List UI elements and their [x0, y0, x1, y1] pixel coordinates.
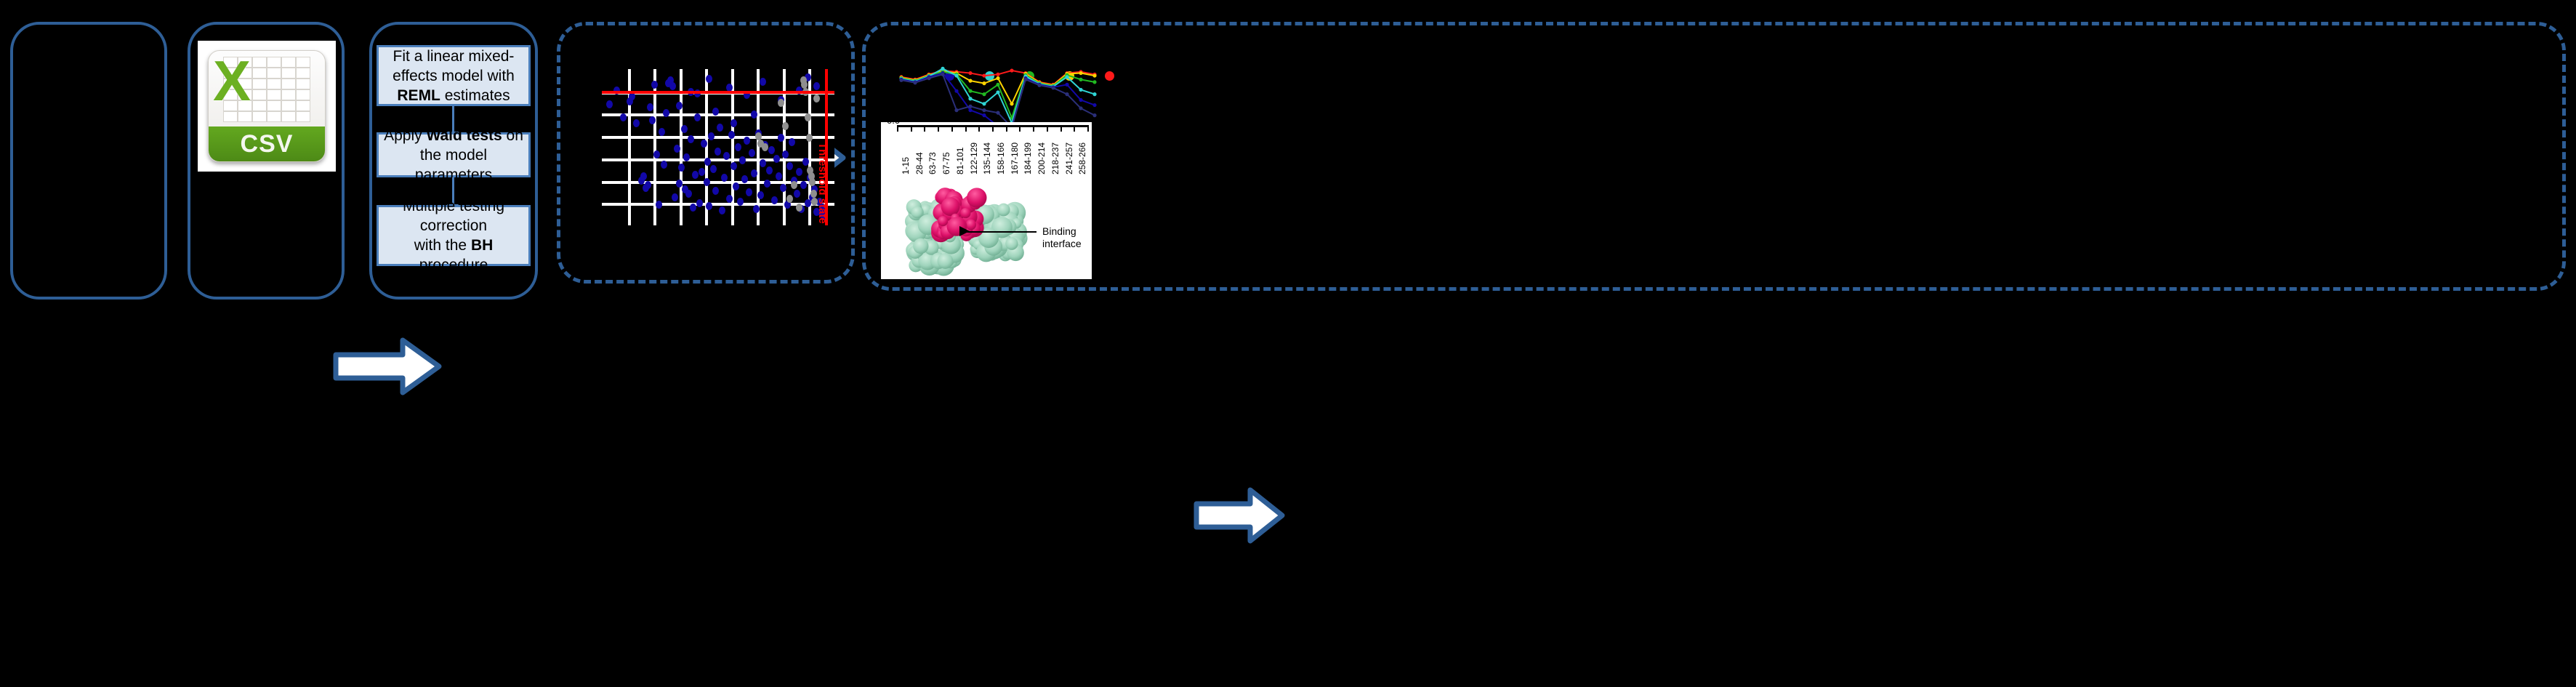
x-axis-tick-label: 167-180	[1010, 142, 1020, 174]
peptide-series-point	[996, 90, 999, 94]
scatter-point-significant	[653, 150, 660, 158]
protein-surface-blob	[997, 204, 1010, 217]
results-panel	[862, 22, 2566, 291]
x-axis-tick-label: 158-166	[996, 142, 1006, 174]
epitope-blob	[960, 208, 970, 218]
scatter-point-significant	[737, 198, 744, 206]
scatter-point-significant	[683, 153, 690, 161]
bh-post: procedure	[419, 257, 488, 273]
peptide-series-point	[1079, 88, 1082, 92]
grid-cell	[296, 68, 310, 79]
scatter-point-significant	[726, 195, 733, 203]
x-axis-tick	[951, 125, 953, 132]
peptide-series-point	[1051, 86, 1055, 89]
wald-pre: Apply	[384, 127, 426, 144]
x-axis-tick-label: 184-199	[1023, 142, 1033, 174]
peptide-series-point	[1079, 71, 1082, 75]
scatter-point-significant	[663, 109, 669, 117]
peptide-series-point	[954, 108, 958, 112]
grid-cell	[267, 68, 281, 79]
peptide-series-point	[954, 73, 958, 77]
grid-cell	[252, 111, 267, 122]
scatter-point-significant	[735, 143, 741, 151]
scatter-point-significant	[744, 137, 750, 145]
threshold-state-label: Threshold state	[816, 142, 829, 224]
x-axis-tick	[992, 125, 994, 132]
scatter-point-significant	[768, 146, 775, 154]
peptide-series-point	[1079, 98, 1082, 102]
scatter-point-significant	[694, 113, 701, 121]
peptide-series-point	[968, 89, 972, 93]
scatter-point-significant	[690, 204, 696, 212]
peptide-series-point	[1092, 80, 1096, 84]
scatter-point-significant	[789, 138, 795, 146]
x-axis-tick-label: 81-101	[955, 148, 965, 174]
x-axis-tick-label: 28-44	[914, 152, 925, 174]
peptide-series-point	[1079, 106, 1082, 110]
threshold-interaction-line	[602, 91, 834, 94]
scatter-point-significant	[706, 75, 712, 83]
peptide-line-chart	[893, 60, 1103, 132]
x-axis-tick	[1006, 125, 1007, 132]
peptide-series-point	[1065, 92, 1068, 96]
x-axis-tick	[978, 125, 980, 132]
scatter-point-significant	[771, 196, 778, 204]
grid-cell	[281, 57, 296, 68]
grid-line-horizontal	[602, 136, 834, 139]
x-axis-tick-label: 67-75	[941, 152, 951, 174]
grid-cell	[252, 57, 267, 68]
scatter-point-significant	[712, 187, 719, 195]
binding-interface-label: Binding interface	[1042, 225, 1082, 250]
input-panel	[10, 22, 167, 300]
peptide-series-point	[1065, 75, 1068, 79]
scatter-point-significant	[606, 100, 613, 108]
scatter-point-significant	[813, 82, 820, 90]
epitope-blob	[967, 188, 986, 207]
scatter-point-nonsignificant	[806, 134, 813, 142]
bh-line2: correction	[420, 217, 487, 234]
peptide-series-point	[1065, 83, 1068, 87]
excel-x-glyph: X	[213, 52, 251, 109]
x-axis-tick-label: 122-129	[969, 142, 979, 174]
scatter-point-significant	[802, 158, 809, 166]
peptide-series-point	[1037, 84, 1041, 87]
csv-file-icon: X CSV	[198, 41, 336, 172]
grid-cell	[208, 134, 212, 145]
grid-cell	[296, 111, 310, 122]
reml-keyword: REML	[397, 87, 440, 104]
scatter-point-significant	[659, 128, 665, 136]
peptide-series-point	[968, 79, 972, 83]
scatter-point-significant	[733, 182, 739, 190]
scatter-point-significant	[764, 180, 770, 188]
scatter-point-nonsignificant	[805, 113, 811, 121]
scatter-plot	[602, 69, 834, 225]
wald-keyword: Wald tests	[426, 127, 502, 144]
grid-cell	[252, 79, 267, 89]
x-axis-tick-label: 135-144	[982, 142, 992, 174]
scatter-point-significant	[751, 169, 757, 177]
scatter-point-significant	[715, 148, 721, 156]
scatter-point-significant	[669, 82, 676, 90]
arrow-to-csv-icon	[333, 336, 442, 397]
x-axis-tick	[1074, 125, 1075, 132]
scatter-point-significant	[620, 113, 627, 121]
peptide-series-point	[1023, 78, 1027, 81]
scatter-point-nonsignificant	[796, 204, 802, 212]
peptide-series-point	[1010, 68, 1013, 72]
x-axis-tick	[911, 125, 912, 132]
peptide-series-line	[901, 74, 1095, 127]
arrow-to-results-panel	[1194, 486, 1285, 545]
grid-cell	[281, 100, 296, 111]
peptide-series-point	[913, 81, 917, 84]
scatter-point-significant	[645, 181, 651, 189]
reml-line3: estimates	[440, 87, 510, 104]
x-axis-tick	[938, 125, 939, 132]
grid-cell	[267, 57, 281, 68]
bh-line1: Multiple testing	[403, 198, 504, 214]
scatter-point-significant	[800, 181, 807, 189]
scatter-point-significant	[717, 124, 723, 132]
x-axis-tick-label: 277-284	[1091, 142, 1101, 174]
scatter-point-significant	[685, 190, 692, 198]
csv-badge: X CSV	[208, 50, 326, 162]
scatter-point-significant	[730, 119, 737, 127]
scatter-point-significant	[749, 149, 755, 157]
grid-cell	[252, 68, 267, 79]
peptide-series-line	[901, 73, 1095, 127]
grid-cell	[267, 79, 281, 89]
scatter-point-significant	[696, 199, 703, 207]
x-axis-tick-label: 63-73	[927, 152, 938, 174]
grid-line-horizontal	[602, 181, 834, 184]
peptide-series-point	[1092, 103, 1096, 107]
peptide-series-point	[982, 102, 986, 105]
scatter-point-nonsignificant	[813, 95, 820, 103]
grid-cell	[238, 111, 252, 122]
scatter-point-significant	[651, 81, 658, 89]
scatter-point-nonsignificant	[782, 122, 789, 130]
grid-cell	[208, 124, 212, 134]
peptide-series-point	[1092, 113, 1096, 117]
x-axis-tick	[1087, 125, 1089, 132]
protein-surface-blob	[913, 238, 928, 254]
peptide-series-point	[968, 105, 972, 108]
grid-cell	[252, 89, 267, 100]
peptide-series-point	[968, 108, 972, 112]
scatter-point-significant	[647, 103, 653, 111]
scatter-point-significant	[766, 166, 773, 174]
peptide-series-point	[1092, 73, 1096, 77]
flow-step-reml: Fit a linear mixed- effects model with R…	[377, 45, 531, 106]
scatter-point-significant	[753, 205, 760, 213]
protein-structure-figure: Binding interface	[881, 183, 1092, 279]
scatter-point-significant	[629, 92, 635, 100]
grid-cell	[281, 79, 296, 89]
scatter-point-significant	[782, 150, 789, 158]
x-axis-tick	[1033, 125, 1034, 132]
scatter-point-significant	[661, 161, 667, 169]
grid-cell	[267, 89, 281, 100]
x-axis-tick-label: 218-237	[1050, 142, 1060, 174]
grid-cell	[296, 89, 310, 100]
x-axis-tick	[1047, 125, 1048, 132]
peptide-series-point	[996, 111, 999, 115]
peptide-series-point	[968, 97, 972, 100]
scatter-point-significant	[719, 206, 725, 214]
scatter-point-significant	[739, 156, 746, 164]
x-axis-tick-label: 241-257	[1064, 142, 1074, 174]
flow-step-bh: Multiple testing correction with the BH …	[377, 205, 531, 266]
scatter-point-significant	[730, 162, 737, 170]
grid-cell	[281, 68, 296, 79]
scatter-point-significant	[776, 172, 782, 180]
x-axis-tick	[1019, 125, 1021, 132]
grid-cell	[281, 89, 296, 100]
bh-keyword: BH	[471, 237, 493, 254]
scatter-point-significant	[672, 193, 678, 201]
grid-cell	[267, 111, 281, 122]
peptide-series-point	[982, 108, 986, 112]
scatter-point-significant	[678, 164, 685, 172]
grid-line-horizontal	[602, 158, 834, 161]
peptide-series-point	[996, 76, 999, 80]
scatter-point-significant	[699, 168, 705, 176]
scatter-point-significant	[796, 168, 802, 176]
epitope-blob	[938, 216, 948, 226]
grid-cell	[208, 145, 212, 156]
scatter-point-nonsignificant	[786, 195, 793, 203]
scatter-point-significant	[794, 190, 800, 198]
epitope-blob	[941, 197, 960, 216]
scatter-point-nonsignificant	[762, 143, 768, 151]
grid-lower	[208, 124, 315, 145]
peptide-series-point	[954, 89, 958, 93]
x-axis-tick	[965, 125, 967, 132]
scatter-point-significant	[692, 171, 699, 179]
scatter-point-significant	[708, 132, 715, 140]
peptide-series-point	[927, 76, 930, 80]
scatter-point-significant	[710, 165, 717, 173]
binding-interface-arrowhead	[959, 226, 970, 236]
scatter-point-significant	[633, 119, 640, 127]
peptide-series-point	[982, 73, 986, 77]
binding-interface-leader-line	[967, 231, 1037, 233]
scatter-point-significant	[760, 159, 766, 167]
scatter-point-significant	[649, 116, 656, 124]
grid-cell	[252, 100, 267, 111]
bh-pre: with the	[414, 237, 471, 254]
x-axis-tick	[1060, 125, 1062, 132]
x-axis-tick	[897, 125, 898, 132]
peptide-series-point	[941, 67, 944, 71]
peptide-series-point	[968, 71, 972, 75]
peptide-series-point	[1010, 102, 1013, 105]
y-axis-tick-label: 0.0	[887, 115, 900, 126]
scatter-point-significant	[786, 162, 793, 170]
peptide-series-point	[996, 83, 999, 87]
grid-cell	[296, 57, 310, 68]
grid-cell	[208, 156, 212, 162]
grid-cell	[296, 79, 310, 89]
peptide-series-point	[996, 73, 999, 76]
peptide-series-point	[1079, 78, 1082, 81]
flow-step-wald: Apply Wald tests on the model parameters	[377, 132, 531, 177]
binding-line2: interface	[1042, 238, 1082, 250]
scatter-point-significant	[676, 102, 683, 110]
scatter-point-significant	[728, 131, 735, 139]
binding-line1: Binding	[1042, 225, 1082, 238]
scatter-point-significant	[674, 145, 680, 153]
grid-cell	[281, 111, 296, 122]
scatter-point-nonsignificant	[778, 99, 784, 107]
scatter-point-significant	[704, 178, 710, 186]
peptide-series-point	[982, 92, 986, 96]
scatter-point-significant	[704, 158, 711, 166]
scatter-point-significant	[746, 188, 752, 196]
legend-dot	[1105, 71, 1114, 81]
peptide-series-point	[941, 73, 944, 76]
scatter-point-significant	[640, 172, 647, 180]
scatter-point-significant	[773, 155, 780, 163]
x-axis-tick-label: 200-214	[1037, 142, 1047, 174]
scatter-point-nonsignificant	[791, 181, 797, 189]
peptide-series-point	[899, 79, 903, 82]
scatter-point-significant	[681, 125, 688, 133]
peptide-series-point	[1092, 92, 1096, 96]
x-axis-tick-label: 258-266	[1077, 142, 1087, 174]
grid-cell	[296, 100, 310, 111]
protein-surface-blob	[938, 253, 954, 269]
scatter-point-significant	[760, 78, 766, 86]
x-axis-tick	[924, 125, 925, 132]
scatter-point-significant	[656, 201, 662, 209]
scatter-point-significant	[778, 134, 784, 142]
reml-line2: effects model with	[393, 68, 515, 84]
scatter-point-significant	[751, 111, 757, 118]
scatter-point-significant	[757, 191, 764, 199]
protein-surface-blob	[1005, 237, 1018, 249]
protein-surface-blob	[911, 206, 923, 219]
peptide-series-point	[982, 81, 986, 85]
scatter-point-significant	[688, 135, 694, 143]
grid-cell	[267, 100, 281, 111]
scatter-point-significant	[706, 202, 712, 210]
scatter-point-significant	[712, 108, 719, 116]
wald-post: on	[502, 127, 523, 144]
peptide-series-point	[982, 113, 986, 117]
reml-line1: Fit a linear mixed-	[393, 48, 515, 65]
grid-cell	[223, 111, 238, 122]
x-axis-tick-label: 1-15	[901, 157, 911, 174]
